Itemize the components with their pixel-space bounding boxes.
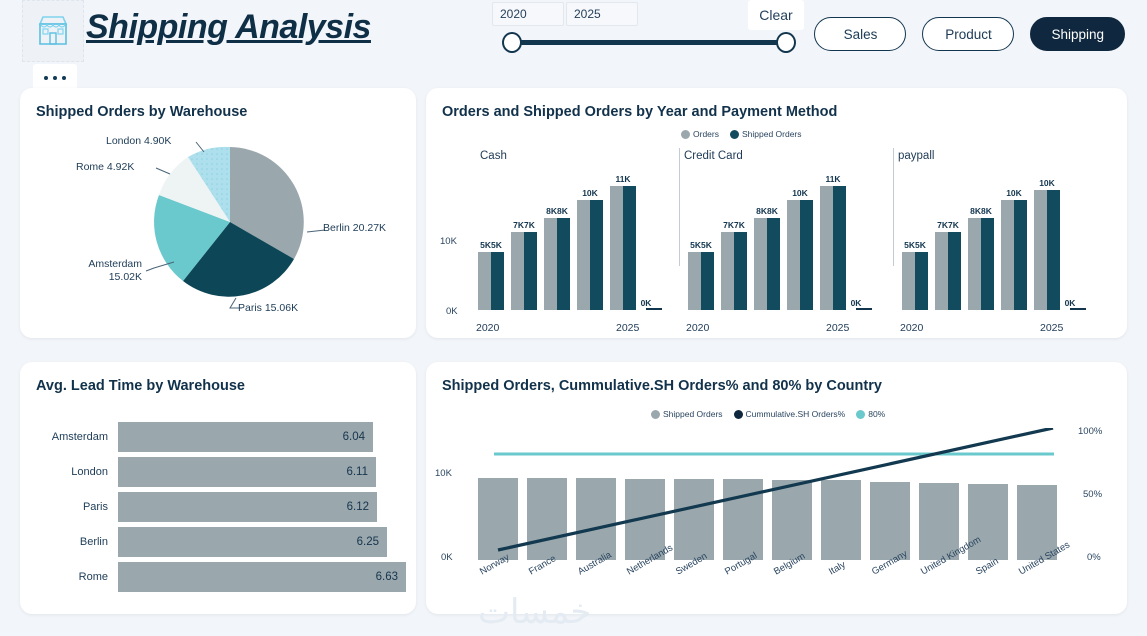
legend-item-shipped-orders[interactable]: Shipped Orders — [730, 129, 802, 139]
pie-label-berlin: Berlin 20.27K — [323, 222, 386, 234]
panel-title-credit-card: Credit Card — [684, 150, 743, 162]
lead-row-paris[interactable]: Paris 6.12 — [36, 492, 400, 522]
slider-handle-left[interactable] — [502, 32, 522, 53]
x-label-end-cash: 2025 — [616, 322, 639, 334]
y2-tick-100: 100% — [1078, 426, 1102, 437]
bar-zero-tick — [856, 308, 872, 310]
card-orders-by-year-payment: Orders and Shipped Orders by Year and Pa… — [426, 88, 1127, 338]
card-shipped-orders-by-warehouse: Shipped Orders by Warehouse — [20, 88, 416, 338]
bar-orders[interactable] — [935, 232, 948, 310]
lead-chart-title: Avg. Lead Time by Warehouse — [36, 378, 245, 394]
y2-tick-0: 0% — [1087, 552, 1101, 563]
slider-handle-right[interactable] — [776, 32, 796, 53]
bar-label: 11K — [825, 174, 840, 184]
bar-group-2022[interactable]: 8K8K — [544, 218, 570, 310]
bar-label: 5K5K — [690, 240, 712, 250]
bar-orders[interactable] — [902, 252, 915, 310]
bar-shipped[interactable] — [491, 252, 504, 310]
legend-swatch-orders — [681, 130, 690, 139]
year-end-input[interactable]: 2025 — [566, 2, 638, 26]
header: Shipping Analysis 2020 2025 Clear Sales … — [0, 0, 1147, 78]
pareto-xlabel-italy: Italy — [827, 559, 848, 577]
x-label-end-credit-card: 2025 — [826, 322, 849, 334]
bar-orders[interactable] — [721, 232, 734, 310]
bar-label: 0K — [641, 298, 652, 308]
bar-shipped[interactable] — [623, 186, 636, 310]
bar-label: 0K — [851, 298, 862, 308]
panel-cash: Cash 10K 0K 5K5K 7K7K 8K8K — [440, 150, 665, 332]
storefront-icon — [22, 0, 84, 62]
slider-track[interactable] — [508, 40, 786, 45]
bar-label: 10K — [1039, 178, 1055, 188]
bar-shipped[interactable] — [800, 200, 813, 310]
bar-shipped[interactable] — [1047, 190, 1060, 310]
y-tick-0k: 0K — [441, 552, 453, 563]
y-tick-10k-cash: 10K — [440, 236, 457, 247]
lead-label: Rome — [36, 562, 108, 592]
pie-chart[interactable]: Berlin 20.27K Paris 15.06K Amsterdam 15.… — [20, 132, 416, 338]
bar-shipped[interactable] — [557, 218, 570, 310]
lead-label: Paris — [36, 492, 108, 522]
legend-item-cumulative[interactable]: Cummulative.SH Orders% — [734, 409, 846, 419]
panel-title-cash: Cash — [480, 150, 507, 162]
bar-label: 8K8K — [756, 206, 778, 216]
bar-label: 7K7K — [937, 220, 959, 230]
bar-label: 5K5K — [480, 240, 502, 250]
bar-label: 0K — [1065, 298, 1076, 308]
bar-group-2022[interactable]: 8K8K — [968, 218, 994, 310]
pie-chart-title: Shipped Orders by Warehouse — [36, 104, 247, 120]
bar-label: 5K5K — [904, 240, 926, 250]
bar-orders[interactable] — [688, 252, 701, 310]
legend-item-shipped-orders[interactable]: Shipped Orders — [651, 409, 723, 419]
pie-label-london: London 4.90K — [106, 135, 171, 147]
bar-label: 11K — [615, 174, 630, 184]
legend-swatch-cumulative — [734, 410, 743, 419]
panel-title-paypall: paypall — [898, 150, 934, 162]
nav-pill-sales[interactable]: Sales — [814, 17, 906, 51]
lead-label: Berlin — [36, 527, 108, 557]
lead-bar[interactable]: 6.63 — [118, 562, 406, 592]
bar-shipped[interactable] — [524, 232, 537, 310]
legend-label-cumulative: Cummulative.SH Orders% — [746, 409, 846, 419]
panel-credit-card: Credit Card 5K5K 7K7K 8K8K — [684, 150, 899, 332]
bar-shipped[interactable] — [767, 218, 780, 310]
legend-item-threshold[interactable]: 80% — [856, 409, 885, 419]
nav-pills: Sales Product Shipping — [814, 17, 1125, 51]
bar-group-2023[interactable]: 10K — [787, 200, 813, 310]
bar-group-2020[interactable]: 5K5K — [902, 252, 928, 310]
bar-group-2020[interactable]: 5K5K — [478, 252, 504, 310]
bar-group-2022[interactable]: 8K8K — [754, 218, 780, 310]
lead-row-london[interactable]: London 6.11 — [36, 457, 400, 487]
lead-value: 6.25 — [357, 527, 379, 557]
bar-group-2021[interactable]: 7K7K — [935, 232, 961, 310]
bar-shipped[interactable] — [734, 232, 747, 310]
lead-row-amsterdam[interactable]: Amsterdam 6.04 — [36, 422, 400, 452]
bar-label: 10K — [1006, 188, 1022, 198]
bar-group-2024[interactable]: 11K — [610, 186, 636, 310]
bar-group-2021[interactable]: 7K7K — [721, 232, 747, 310]
bar-chart-legend: Orders Shipped Orders — [681, 129, 809, 139]
lead-value: 6.04 — [343, 422, 365, 452]
panel-divider-2 — [893, 148, 894, 266]
lead-bar[interactable]: 6.12 — [118, 492, 377, 522]
bar-group-2023[interactable]: 10K — [577, 200, 603, 310]
bar-label: 8K8K — [546, 206, 568, 216]
bar-orders[interactable] — [968, 218, 981, 310]
legend-swatch-shipped-orders — [651, 410, 660, 419]
bar-label: 7K7K — [513, 220, 535, 230]
bar-shipped[interactable] — [1014, 200, 1027, 310]
legend-label-shipped-orders: Shipped Orders — [663, 409, 723, 419]
legend-label-shipped-orders: Shipped Orders — [742, 129, 802, 139]
bar-orders[interactable] — [1034, 190, 1047, 310]
x-label-start-credit-card: 2020 — [686, 322, 709, 334]
page-title: Shipping Analysis — [86, 8, 371, 47]
bar-orders[interactable] — [511, 232, 524, 310]
pie-label-rome: Rome 4.92K — [76, 161, 134, 173]
bar-orders[interactable] — [820, 186, 833, 310]
bar-orders[interactable] — [787, 200, 800, 310]
bar-label: 8K8K — [970, 206, 992, 216]
bar-group-2024[interactable]: 11K — [820, 186, 846, 310]
lead-value: 6.11 — [346, 457, 368, 487]
lead-bar[interactable]: 6.25 — [118, 527, 387, 557]
bar-label: 7K7K — [723, 220, 745, 230]
bar-label: 10K — [582, 188, 598, 198]
lead-value: 6.12 — [347, 492, 369, 522]
bar-chart-title: Orders and Shipped Orders by Year and Pa… — [442, 104, 837, 120]
panel-divider-1 — [679, 148, 680, 266]
lead-value: 6.63 — [376, 562, 398, 592]
y-tick-10k: 10K — [435, 468, 452, 479]
bar-group-2023[interactable]: 10K — [1001, 200, 1027, 310]
x-label-end-paypall: 2025 — [1040, 322, 1063, 334]
legend-swatch-threshold — [856, 410, 865, 419]
lead-row-rome[interactable]: Rome 6.63 — [36, 562, 400, 592]
pie-label-amsterdam: Amsterdam 15.02K — [58, 258, 142, 284]
nav-pill-product[interactable]: Product — [922, 17, 1014, 51]
lead-bar[interactable]: 6.11 — [118, 457, 376, 487]
legend-label-orders: Orders — [693, 129, 719, 139]
legend-swatch-shipped-orders — [730, 130, 739, 139]
bar-group-2021[interactable]: 7K7K — [511, 232, 537, 310]
bar-shipped[interactable] — [701, 252, 714, 310]
bar-orders[interactable] — [610, 186, 623, 310]
card-avg-lead-time: Avg. Lead Time by Warehouse Amsterdam 6.… — [20, 362, 416, 614]
bar-label: 10K — [792, 188, 808, 198]
bar-shipped[interactable] — [948, 232, 961, 310]
cumulative-line — [498, 428, 1053, 550]
x-label-start-cash: 2020 — [476, 322, 499, 334]
bar-shipped[interactable] — [915, 252, 928, 310]
bar-orders[interactable] — [577, 200, 590, 310]
bar-shipped[interactable] — [833, 186, 846, 310]
bar-orders[interactable] — [478, 252, 491, 310]
pie-label-paris: Paris 15.06K — [238, 302, 298, 314]
bar-group-2020[interactable]: 5K5K — [688, 252, 714, 310]
legend-item-orders[interactable]: Orders — [681, 129, 719, 139]
bar-orders[interactable] — [1001, 200, 1014, 310]
bar-shipped[interactable] — [981, 218, 994, 310]
nav-pill-shipping[interactable]: Shipping — [1030, 17, 1125, 51]
y-tick-0k-cash: 0K — [446, 306, 458, 317]
bar-zero-tick — [1070, 308, 1086, 310]
lead-label: London — [36, 457, 108, 487]
bar-orders[interactable] — [754, 218, 767, 310]
y2-tick-50: 50% — [1083, 489, 1102, 500]
year-start-input[interactable]: 2020 — [492, 2, 564, 26]
bar-zero-tick — [646, 308, 662, 310]
card-pareto-by-country: Shipped Orders, Cummulative.SH Orders% a… — [426, 362, 1127, 614]
bar-group-2024[interactable]: 10K — [1034, 190, 1060, 310]
pareto-legend: Shipped Orders Cummulative.SH Orders% 80… — [651, 409, 892, 419]
lead-row-berlin[interactable]: Berlin 6.25 — [36, 527, 400, 557]
bar-shipped[interactable] — [590, 200, 603, 310]
clear-button[interactable]: Clear — [748, 0, 804, 30]
pareto-chart-title: Shipped Orders, Cummulative.SH Orders% a… — [442, 378, 882, 394]
lead-bar[interactable]: 6.04 — [118, 422, 373, 452]
bar-orders[interactable] — [544, 218, 557, 310]
lead-label: Amsterdam — [36, 422, 108, 452]
legend-label-threshold: 80% — [868, 409, 885, 419]
panel-paypall: paypall 5K5K 7K7K 8K8K 1 — [898, 150, 1113, 332]
dashboard-page: Shipping Analysis 2020 2025 Clear Sales … — [0, 0, 1147, 636]
x-label-start-paypall: 2020 — [900, 322, 923, 334]
